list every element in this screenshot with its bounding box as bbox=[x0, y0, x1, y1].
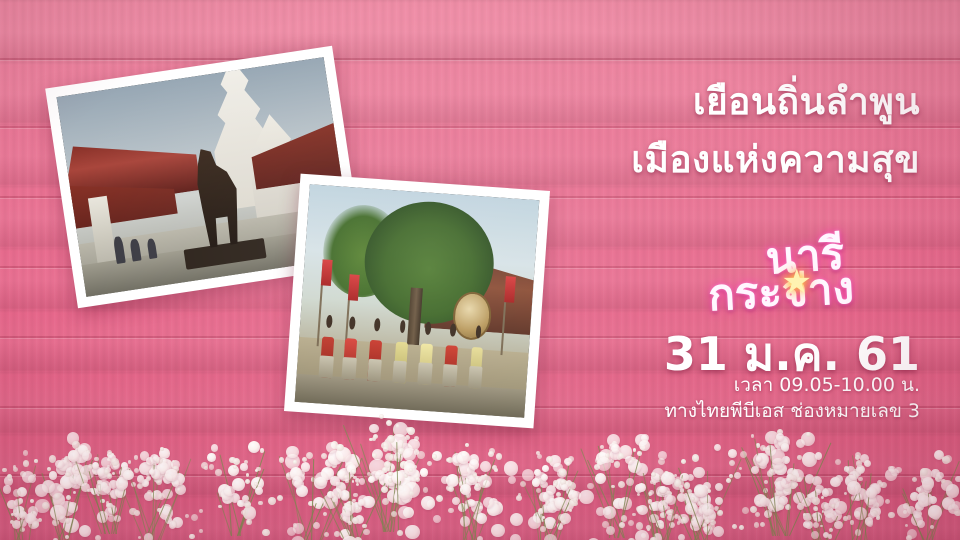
flower-bud bbox=[464, 487, 468, 491]
flower-stem bbox=[68, 453, 89, 540]
flower-bloom bbox=[107, 452, 114, 459]
flower-stem bbox=[474, 486, 482, 540]
flower-bud bbox=[331, 462, 337, 468]
flower-bloom bbox=[781, 478, 791, 488]
flower-bloom bbox=[770, 496, 785, 511]
flower-bud bbox=[146, 476, 152, 482]
flower-stem bbox=[703, 459, 742, 540]
flower-bloom bbox=[941, 480, 952, 491]
flower-bloom bbox=[552, 498, 561, 507]
flower-bud bbox=[705, 506, 710, 511]
flower-bud bbox=[561, 519, 567, 525]
flower-bud bbox=[829, 528, 833, 532]
flower-bud bbox=[415, 477, 420, 482]
flower-bud bbox=[718, 510, 723, 515]
flower-bloom bbox=[237, 500, 244, 507]
flower-bloom bbox=[715, 497, 723, 505]
flower-bud bbox=[637, 493, 640, 496]
flower-stem bbox=[396, 442, 399, 532]
flower-bud bbox=[542, 516, 545, 519]
flower-bloom bbox=[108, 454, 116, 462]
flower-bud bbox=[785, 504, 791, 510]
flower-bloom bbox=[408, 439, 419, 450]
flower-bud bbox=[905, 524, 908, 527]
flower-bud bbox=[464, 504, 469, 509]
flower-bud bbox=[666, 491, 671, 496]
flower-bud bbox=[658, 458, 665, 465]
flower-stem bbox=[28, 505, 34, 540]
flower-bloom bbox=[870, 506, 881, 517]
flower-bloom bbox=[811, 491, 818, 498]
flower-stem bbox=[742, 447, 787, 537]
flower-bloom bbox=[764, 510, 772, 518]
flower-bud bbox=[436, 495, 443, 502]
flower-bloom bbox=[915, 502, 924, 511]
flower-bud bbox=[906, 535, 912, 540]
flower-bud bbox=[726, 478, 731, 483]
flower-bloom bbox=[7, 500, 16, 509]
flower-bud bbox=[328, 456, 334, 462]
flower-bloom bbox=[99, 482, 108, 491]
flower-bloom bbox=[765, 445, 776, 456]
flower-bud bbox=[681, 517, 687, 523]
flower-bloom bbox=[368, 476, 375, 483]
flower-bud bbox=[755, 512, 760, 517]
flower-bloom bbox=[532, 478, 541, 487]
flower-bloom bbox=[109, 480, 117, 488]
flower-stem bbox=[688, 511, 701, 540]
flower-bud bbox=[873, 502, 879, 508]
flower-bloom bbox=[362, 496, 374, 508]
flower-bloom bbox=[955, 476, 960, 482]
flower-bloom bbox=[919, 493, 932, 506]
dancer-skirt bbox=[392, 360, 407, 383]
flower-bloom bbox=[568, 490, 578, 500]
flower-bud bbox=[137, 483, 143, 489]
flower-bloom bbox=[394, 452, 403, 461]
flower-bud bbox=[664, 492, 667, 495]
flower-bud bbox=[536, 451, 540, 455]
flower-bloom bbox=[551, 503, 559, 511]
flower-bud bbox=[30, 499, 34, 503]
flower-bud bbox=[888, 466, 894, 472]
flower-bud bbox=[649, 490, 654, 495]
dancer-skirt bbox=[417, 362, 432, 385]
flower-bud bbox=[406, 427, 411, 432]
flower-stem bbox=[347, 497, 361, 540]
flower-bloom bbox=[469, 459, 480, 470]
flower-bud bbox=[334, 531, 340, 537]
flower-bud bbox=[446, 458, 451, 463]
flower-bud bbox=[710, 520, 715, 525]
flower-bloom bbox=[542, 504, 550, 512]
flower-stem bbox=[93, 495, 110, 534]
flower-bud bbox=[692, 454, 700, 462]
dancer-head bbox=[450, 323, 457, 336]
flower-stem bbox=[684, 490, 697, 540]
flower-bud bbox=[631, 457, 636, 462]
flower-bloom bbox=[545, 505, 552, 512]
flower-bud bbox=[147, 490, 152, 495]
flower-bud bbox=[465, 493, 470, 498]
flower-bloom bbox=[698, 485, 710, 497]
flower-bloom bbox=[355, 515, 364, 524]
flower-bud bbox=[191, 514, 198, 521]
flower-bud bbox=[409, 491, 414, 496]
flower-bud bbox=[111, 458, 118, 465]
flower-bud bbox=[918, 494, 923, 499]
flower-bud bbox=[13, 467, 18, 472]
flower-bud bbox=[774, 481, 778, 485]
flower-bloom bbox=[432, 451, 442, 461]
flower-bud bbox=[382, 467, 388, 473]
flower-bloom bbox=[352, 502, 361, 511]
flower-bloom bbox=[635, 484, 644, 493]
flower-bud bbox=[31, 512, 35, 516]
flower-stem bbox=[109, 494, 117, 534]
flower-bud bbox=[268, 497, 276, 505]
flower-bud bbox=[756, 501, 760, 505]
flower-bud bbox=[123, 477, 128, 482]
flower-bud bbox=[812, 497, 820, 505]
flower-stem bbox=[793, 488, 821, 540]
flower-bloom bbox=[338, 491, 348, 501]
flower-bud bbox=[885, 499, 890, 504]
flower-bud bbox=[108, 515, 115, 522]
flower-bud bbox=[812, 513, 817, 518]
flower-stem bbox=[618, 452, 634, 538]
flower-bud bbox=[398, 440, 403, 445]
flower-bloom bbox=[393, 422, 408, 437]
flower-bloom bbox=[895, 467, 902, 474]
flower-stem bbox=[113, 469, 131, 534]
flower-bud bbox=[358, 504, 361, 507]
flower-bloom bbox=[869, 483, 881, 495]
flower-bud bbox=[617, 456, 620, 459]
flower-bloom bbox=[609, 443, 618, 452]
flower-bloom bbox=[910, 492, 919, 501]
flower-bud bbox=[2, 468, 6, 472]
flower-stem bbox=[864, 473, 872, 540]
flower-bud bbox=[256, 467, 260, 471]
flower-bloom bbox=[480, 461, 491, 472]
flower-bloom bbox=[159, 448, 169, 458]
flower-bud bbox=[710, 514, 715, 519]
flower-stem bbox=[789, 443, 832, 537]
flower-stem bbox=[47, 502, 61, 540]
flower-stem bbox=[543, 514, 557, 540]
flower-bud bbox=[336, 482, 340, 486]
flower-bud bbox=[238, 500, 241, 503]
flower-bud bbox=[855, 529, 861, 535]
flower-bloom bbox=[345, 501, 355, 511]
flower-bloom bbox=[403, 507, 414, 518]
flower-bloom bbox=[369, 424, 378, 433]
flower-bud bbox=[691, 497, 696, 502]
flower-bloom bbox=[691, 493, 700, 502]
flower-bud bbox=[345, 479, 349, 483]
flower-bud bbox=[465, 500, 470, 505]
flower-bloom bbox=[560, 480, 569, 489]
flower-bud bbox=[932, 512, 940, 520]
flower-bud bbox=[13, 465, 17, 469]
flower-bloom bbox=[81, 483, 90, 492]
flower-bud bbox=[621, 498, 625, 502]
flower-bud bbox=[339, 494, 342, 497]
flower-stem bbox=[343, 425, 387, 532]
flower-bloom bbox=[611, 444, 621, 454]
flower-bud bbox=[405, 435, 410, 440]
flower-bloom bbox=[242, 495, 250, 503]
flower-bloom bbox=[702, 503, 714, 515]
flower-stem bbox=[769, 437, 778, 536]
flower-bud bbox=[475, 483, 479, 487]
flower-bud bbox=[610, 459, 614, 463]
flower-stem bbox=[684, 498, 699, 540]
flower-bloom bbox=[801, 432, 815, 446]
flower-bud bbox=[151, 492, 156, 497]
flower-bloom bbox=[543, 506, 550, 513]
flower-bloom bbox=[942, 497, 955, 510]
flower-bud bbox=[170, 520, 177, 527]
flower-bud bbox=[382, 498, 389, 505]
flower-stem bbox=[0, 471, 24, 540]
flower-bud bbox=[784, 484, 791, 491]
flower-bloom bbox=[137, 475, 144, 482]
flower-bud bbox=[346, 503, 351, 508]
flower-bloom bbox=[628, 459, 642, 473]
flower-bud bbox=[427, 461, 432, 466]
flower-bloom bbox=[539, 492, 549, 502]
flower-bloom bbox=[105, 467, 111, 473]
flower-bloom bbox=[754, 494, 767, 507]
flower-stem bbox=[217, 492, 233, 536]
flower-bloom bbox=[491, 524, 504, 537]
flower-bloom bbox=[865, 517, 874, 526]
flower-bloom bbox=[637, 505, 647, 515]
flower-bloom bbox=[854, 493, 862, 501]
flower-bloom bbox=[715, 483, 723, 491]
flower-bud bbox=[107, 465, 110, 468]
flower-bud bbox=[852, 482, 856, 486]
flower-bud bbox=[465, 491, 472, 498]
flower-bloom bbox=[544, 517, 555, 528]
flower-bloom bbox=[476, 513, 487, 524]
flower-bloom bbox=[230, 493, 240, 503]
flower-bud bbox=[597, 459, 603, 465]
flower-bloom bbox=[821, 502, 829, 510]
flower-stem bbox=[302, 503, 317, 540]
flower-bud bbox=[595, 457, 602, 464]
flower-stem bbox=[930, 477, 953, 540]
flower-stem bbox=[360, 444, 390, 533]
flower-bloom bbox=[779, 496, 788, 505]
flower-bloom bbox=[467, 466, 475, 474]
headline-line-1: เยือนถิ่นลำพูน bbox=[693, 72, 920, 131]
flower-stem bbox=[477, 506, 491, 540]
flower-bloom bbox=[301, 462, 310, 471]
flower-bud bbox=[942, 457, 946, 461]
flower-stem bbox=[319, 457, 363, 540]
flower-bloom bbox=[328, 450, 343, 465]
flower-stem bbox=[659, 475, 670, 540]
flower-bud bbox=[336, 444, 344, 452]
flower-bloom bbox=[599, 449, 613, 463]
flower-bud bbox=[496, 453, 503, 460]
flower-bloom bbox=[782, 456, 790, 464]
flower-bloom bbox=[35, 499, 49, 513]
flower-bud bbox=[319, 480, 325, 486]
flower-bloom bbox=[172, 517, 184, 529]
flower-bud bbox=[353, 493, 358, 498]
flower-bloom bbox=[797, 503, 803, 509]
flower-bloom bbox=[162, 489, 173, 500]
flower-bloom bbox=[802, 452, 817, 467]
flower-bud bbox=[921, 502, 926, 507]
flower-stem bbox=[114, 471, 145, 540]
flower-bloom bbox=[175, 484, 186, 495]
flower-bud bbox=[540, 526, 545, 531]
flower-bloom bbox=[218, 484, 231, 497]
flower-bloom bbox=[666, 495, 675, 504]
flower-bud bbox=[97, 485, 103, 491]
flower-bud bbox=[20, 527, 25, 532]
flower-stem bbox=[831, 482, 863, 540]
flower-bud bbox=[343, 506, 346, 509]
flower-bud bbox=[423, 487, 429, 493]
flower-bloom bbox=[660, 489, 667, 496]
flower-stem bbox=[17, 509, 26, 540]
flower-bud bbox=[831, 504, 836, 509]
flower-bloom bbox=[835, 501, 848, 514]
flower-bud bbox=[185, 514, 189, 518]
flower-bloom bbox=[171, 460, 180, 469]
flower-bud bbox=[23, 450, 28, 455]
flower-stem bbox=[387, 436, 405, 532]
flower-bloom bbox=[388, 476, 397, 485]
flower-bloom bbox=[52, 493, 66, 507]
flower-bloom bbox=[293, 523, 304, 534]
flower-bloom bbox=[856, 465, 865, 474]
flower-bloom bbox=[635, 434, 648, 447]
flower-bloom bbox=[398, 506, 411, 519]
flower-bud bbox=[336, 482, 339, 485]
dancer-skirt bbox=[443, 364, 458, 387]
flower-bloom bbox=[67, 432, 80, 445]
flower-bloom bbox=[483, 480, 490, 487]
flower-bud bbox=[681, 518, 686, 523]
flower-bloom bbox=[61, 458, 68, 465]
flower-bloom bbox=[544, 503, 554, 513]
flower-bloom bbox=[572, 491, 581, 500]
flower-bud bbox=[903, 510, 907, 514]
flower-bud bbox=[912, 477, 917, 482]
flower-bud bbox=[704, 503, 710, 509]
flower-stem bbox=[304, 457, 346, 540]
flower-stem bbox=[926, 494, 951, 540]
flower-bud bbox=[65, 518, 70, 523]
flower-bud bbox=[516, 495, 522, 501]
flower-bud bbox=[662, 504, 666, 508]
flower-bloom bbox=[463, 479, 472, 488]
flower-bud bbox=[614, 461, 621, 468]
flower-bud bbox=[409, 468, 413, 472]
flower-stem bbox=[88, 471, 106, 534]
flower-stem bbox=[851, 489, 875, 540]
flower-bloom bbox=[913, 510, 922, 519]
flower-bloom bbox=[546, 498, 558, 510]
flower-stem bbox=[815, 488, 820, 540]
flower-bloom bbox=[561, 484, 568, 491]
flower-bloom bbox=[341, 493, 349, 501]
flower-stem bbox=[239, 480, 253, 536]
flower-bud bbox=[488, 451, 495, 458]
flower-bloom bbox=[457, 451, 471, 465]
flower-bud bbox=[636, 522, 644, 530]
flower-bud bbox=[871, 510, 878, 517]
flower-stem bbox=[545, 471, 579, 540]
flower-bloom bbox=[35, 484, 48, 497]
flower-bloom bbox=[917, 520, 925, 528]
flower-bud bbox=[656, 521, 660, 525]
flower-bud bbox=[277, 495, 283, 501]
flower-bud bbox=[108, 503, 113, 508]
flower-bud bbox=[568, 482, 576, 490]
flower-bloom bbox=[917, 493, 926, 502]
flower-stem bbox=[144, 500, 162, 540]
flower-bloom bbox=[342, 509, 350, 517]
flower-stem bbox=[654, 483, 659, 540]
flower-bloom bbox=[73, 447, 89, 463]
flower-bud bbox=[876, 516, 881, 521]
flower-bloom bbox=[59, 501, 74, 516]
flower-bloom bbox=[864, 460, 871, 467]
flower-bud bbox=[653, 482, 656, 485]
flower-stem bbox=[126, 466, 155, 540]
flower-bloom bbox=[916, 501, 924, 509]
flower-bud bbox=[646, 525, 651, 530]
flower-bloom bbox=[834, 498, 840, 504]
flower-bloom bbox=[603, 507, 611, 515]
flower-bud bbox=[107, 491, 111, 495]
flower-stem bbox=[345, 518, 354, 540]
flower-bloom bbox=[510, 513, 523, 526]
flower-stem bbox=[654, 494, 661, 540]
flower-stem bbox=[860, 492, 870, 540]
dancer-skirt bbox=[367, 358, 382, 381]
flower-bloom bbox=[542, 465, 549, 472]
flower-bloom bbox=[907, 529, 918, 540]
flower-bloom bbox=[220, 491, 227, 498]
flower-bud bbox=[13, 489, 21, 497]
flower-bud bbox=[388, 478, 394, 484]
flower-bloom bbox=[384, 437, 399, 452]
flower-bloom bbox=[80, 465, 95, 480]
flower-bud bbox=[764, 480, 768, 484]
flower-bud bbox=[381, 442, 388, 449]
flower-bloom bbox=[824, 507, 835, 518]
flower-bloom bbox=[332, 488, 343, 499]
flower-bloom bbox=[165, 516, 173, 524]
flower-bud bbox=[460, 489, 463, 492]
folk-dance-photo-image bbox=[295, 184, 540, 418]
flower-bloom bbox=[854, 507, 867, 520]
flower-bud bbox=[414, 436, 419, 441]
flower-bud bbox=[814, 507, 818, 511]
flower-bloom bbox=[765, 431, 779, 445]
flower-bud bbox=[344, 519, 347, 522]
flower-bud bbox=[134, 468, 139, 473]
